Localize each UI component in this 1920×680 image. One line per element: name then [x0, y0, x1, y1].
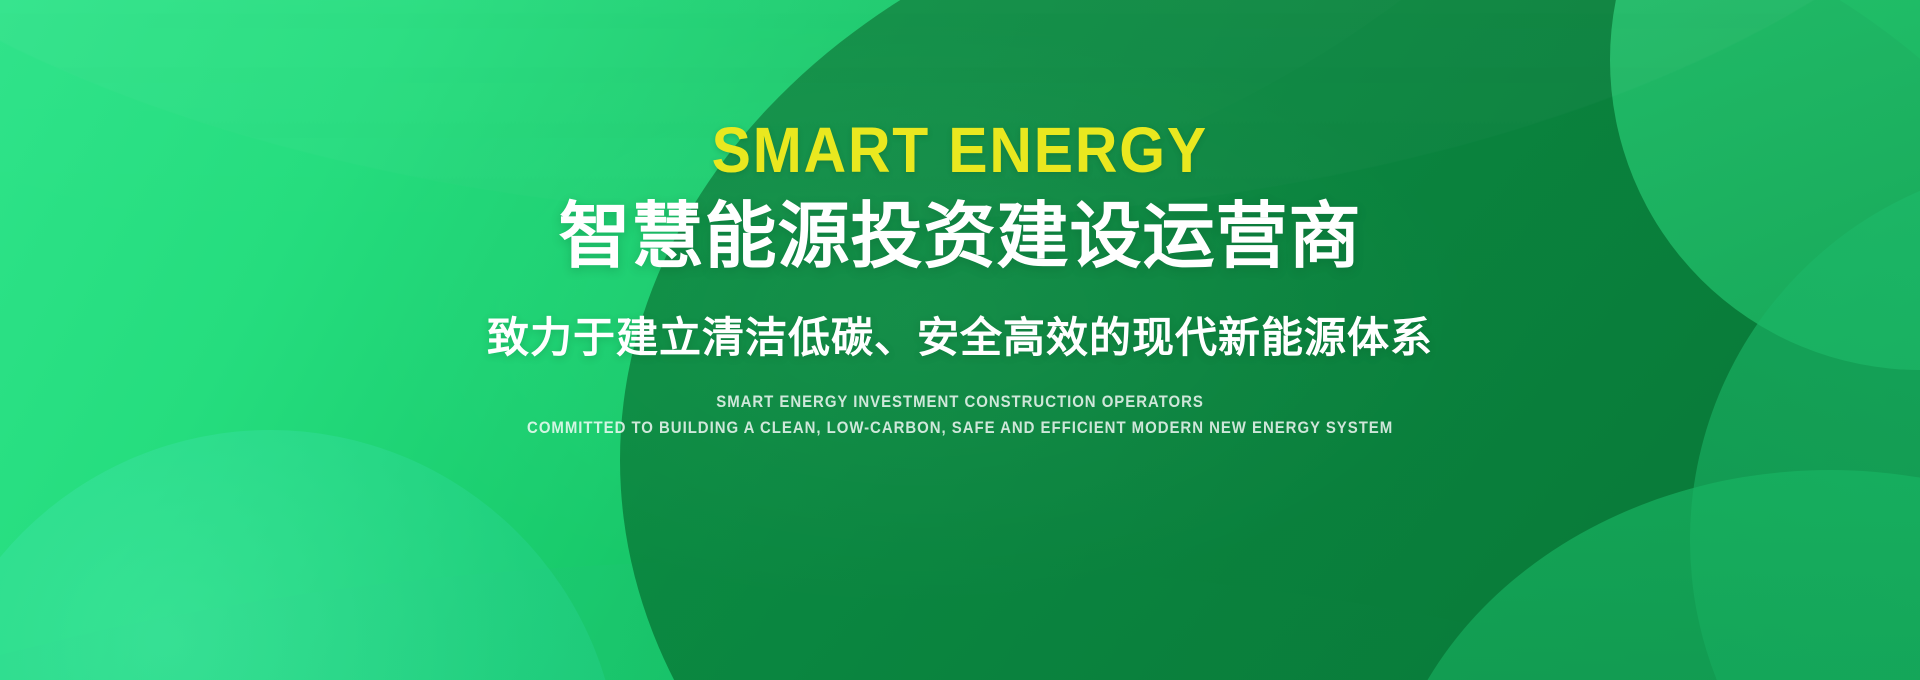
banner-subtitle-chinese: 致力于建立清洁低碳、安全高效的现代新能源体系	[487, 313, 1433, 363]
hero-banner: SMART ENERGY 智慧能源投资建设运营商 致力于建立清洁低碳、安全高效的…	[0, 0, 1920, 680]
banner-tagline-group: SMART ENERGY INVESTMENT CONSTRUCTION OPE…	[468, 389, 1452, 442]
banner-title-english: SMART ENERGY	[712, 118, 1208, 182]
banner-tagline-line-2: COMMITTED TO BUILDING A CLEAN, LOW-CARBO…	[527, 415, 1393, 441]
banner-tagline-line-1: SMART ENERGY INVESTMENT CONSTRUCTION OPE…	[716, 389, 1204, 415]
banner-title-chinese: 智慧能源投资建设运营商	[558, 196, 1361, 277]
banner-content: SMART ENERGY 智慧能源投资建设运营商 致力于建立清洁低碳、安全高效的…	[0, 0, 1920, 680]
